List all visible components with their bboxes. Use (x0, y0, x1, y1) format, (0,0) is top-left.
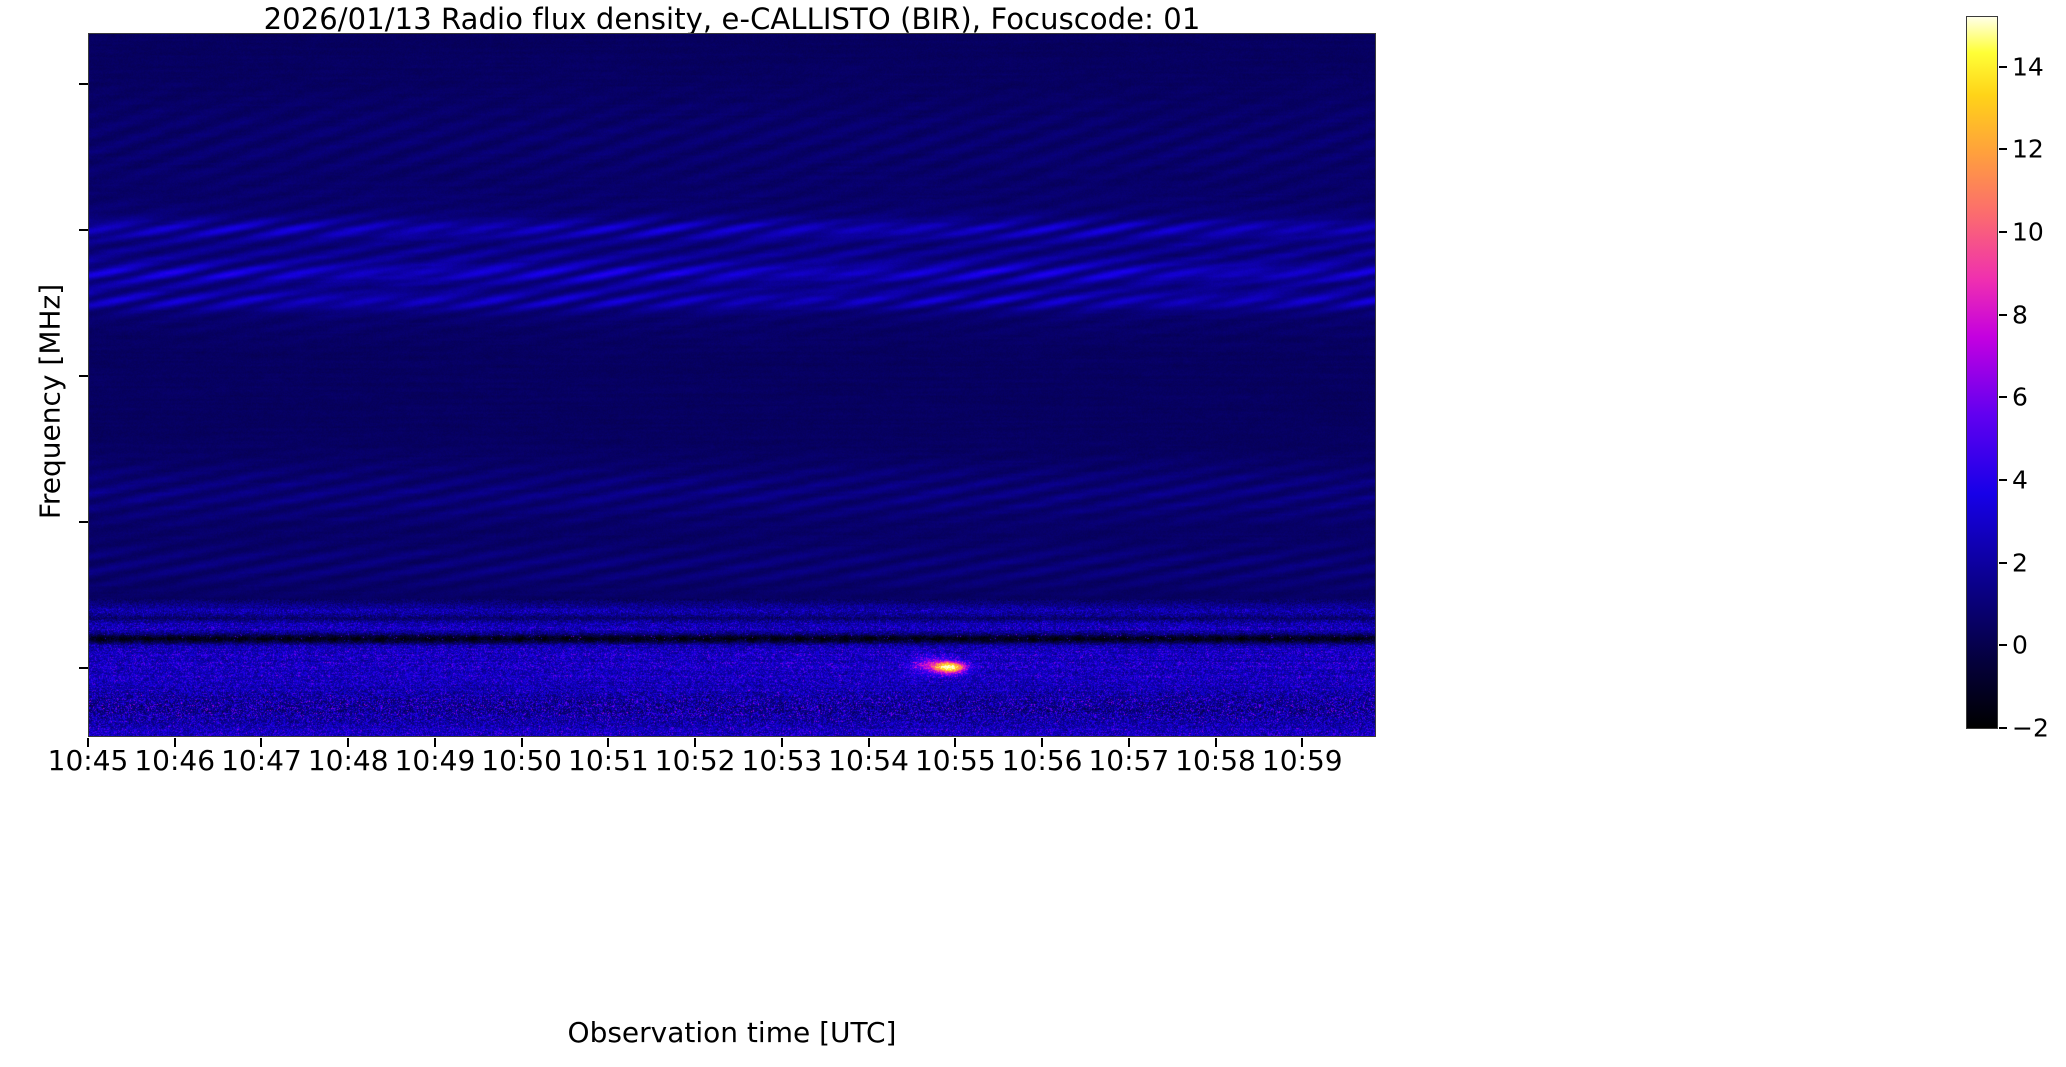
x-axis-label: Observation time [UTC] (88, 1016, 1376, 1049)
x-axis-tick-label: 10:47 (221, 744, 302, 777)
spectrogram-plot-area (88, 33, 1376, 737)
x-axis-tick-mark (1215, 738, 1217, 747)
colorbar-tick-label: −2 (2012, 714, 2049, 743)
y-axis-tick-mark (79, 667, 88, 669)
colorbar-tick-label: 10 (2012, 217, 2044, 246)
colorbar-tick-mark (1999, 148, 2007, 150)
colorbar-tick-mark (1999, 562, 2007, 564)
colorbar-tick-label: 14 (2012, 52, 2044, 81)
x-axis-tick-mark (1128, 738, 1130, 747)
y-axis-tick-mark (79, 521, 88, 523)
x-axis-tick-label: 10:59 (1262, 744, 1343, 777)
colorbar-tick-mark (1999, 231, 2007, 233)
x-axis-tick-mark (87, 738, 89, 747)
x-axis-tick-label: 10:51 (568, 744, 649, 777)
x-axis-tick-mark (954, 738, 956, 747)
x-axis-tick-mark (868, 738, 870, 747)
x-axis-tick-label: 10:56 (1002, 744, 1083, 777)
x-axis-tick-mark (694, 738, 696, 747)
colorbar-tick-mark (1999, 644, 2007, 646)
y-axis-label: Frequency [MHz] (34, 52, 67, 752)
colorbar-tick-label: 4 (2012, 465, 2028, 494)
x-axis-tick-mark (1041, 738, 1043, 747)
x-axis-tick-label: 10:58 (1175, 744, 1256, 777)
colorbar-tick-label: 2 (2012, 548, 2028, 577)
colorbar (1966, 16, 1998, 729)
x-axis-tick-label: 10:48 (308, 744, 389, 777)
colorbar-tick-mark (1999, 396, 2007, 398)
x-axis-tick-label: 10:57 (1088, 744, 1169, 777)
x-axis-tick-label: 10:52 (655, 744, 736, 777)
x-axis-tick-mark (174, 738, 176, 747)
page-title: 2026/01/13 Radio flux density, e-CALLIST… (88, 4, 1376, 34)
colorbar-tick-label: 12 (2012, 135, 2044, 164)
spectrogram-canvas (89, 34, 1376, 737)
x-axis-tick-label: 10:46 (134, 744, 215, 777)
x-axis-tick-label: 10:45 (48, 744, 129, 777)
y-axis-tick-mark (79, 83, 88, 85)
x-axis-tick-mark (260, 738, 262, 747)
x-axis-tick-mark (1301, 738, 1303, 747)
x-axis-tick-mark (521, 738, 523, 747)
colorbar-tick-mark (1999, 314, 2007, 316)
x-axis-tick-mark (607, 738, 609, 747)
colorbar-tick-mark (1999, 66, 2007, 68)
x-axis-tick-mark (781, 738, 783, 747)
x-axis-tick-label: 10:54 (828, 744, 909, 777)
x-axis-tick-label: 10:55 (915, 744, 996, 777)
colorbar-tick-mark (1999, 727, 2007, 729)
y-axis-tick-mark (79, 229, 88, 231)
x-axis-tick-mark (434, 738, 436, 747)
y-axis-tick-mark (79, 375, 88, 377)
colorbar-tick-label: 6 (2012, 383, 2028, 412)
colorbar-tick-mark (1999, 479, 2007, 481)
colorbar-gradient (1967, 17, 1997, 728)
x-axis-tick-label: 10:49 (395, 744, 476, 777)
colorbar-tick-label: 8 (2012, 300, 2028, 329)
x-axis-tick-label: 10:53 (742, 744, 823, 777)
x-axis-tick-mark (347, 738, 349, 747)
x-axis-tick-label: 10:50 (481, 744, 562, 777)
colorbar-tick-label: 0 (2012, 631, 2028, 660)
